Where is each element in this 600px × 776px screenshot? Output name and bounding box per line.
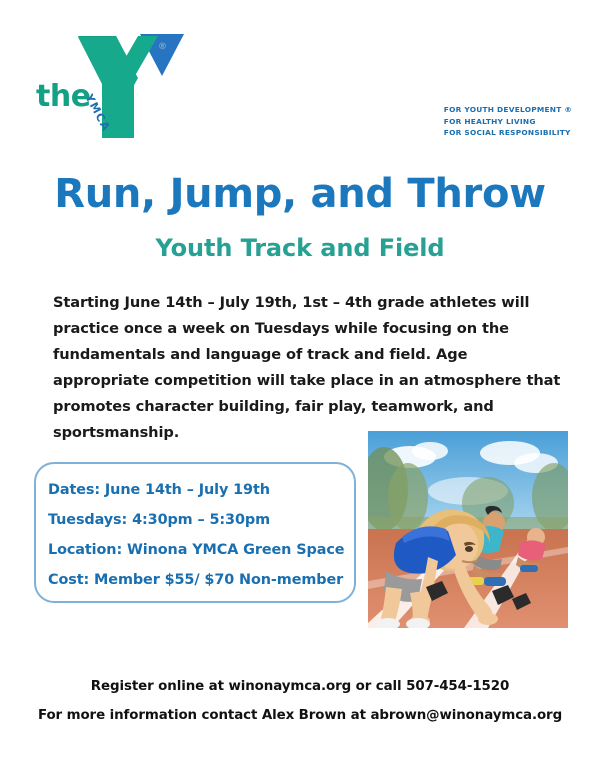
footer-info-line: For more information contact Alex Brown …: [0, 701, 600, 730]
ymca-y-mark-icon: [72, 26, 190, 144]
ymca-tagline: FOR YOUTH DEVELOPMENT ® FOR HEALTHY LIVI…: [444, 104, 572, 139]
tagline-line-1: FOR YOUTH DEVELOPMENT ®: [444, 104, 572, 116]
detail-location: Location: Winona YMCA Green Space: [48, 535, 346, 565]
footer-register-line: Register online at winonaymca.org or cal…: [0, 672, 600, 701]
page-subtitle: Youth Track and Field: [0, 235, 600, 261]
track-athletes-photo: [368, 431, 568, 628]
detail-times: Tuesdays: 4:30pm – 5:30pm: [48, 505, 346, 535]
tagline-line-2: FOR HEALTHY LIVING: [444, 116, 572, 128]
detail-dates: Dates: June 14th – July 19th: [48, 475, 346, 505]
program-details-box: Dates: June 14th – July 19th Tuesdays: 4…: [34, 462, 356, 603]
program-details-list: Dates: June 14th – July 19th Tuesdays: 4…: [48, 475, 346, 595]
registered-trademark-icon: ®: [158, 42, 167, 52]
footer-contact: Register online at winonaymca.org or cal…: [0, 672, 600, 730]
detail-cost: Cost: Member $55/ $70 Non-member: [48, 565, 346, 595]
program-description: Starting June 14th – July 19th, 1st – 4t…: [53, 290, 561, 446]
page-title: Run, Jump, and Throw: [0, 172, 600, 216]
flyer-page: the ® YMCA FOR YOUTH DEVELOPMENT ® FOR H…: [0, 0, 600, 776]
ymca-logo: the ® YMCA: [36, 26, 216, 146]
tagline-line-3: FOR SOCIAL RESPONSIBILITY: [444, 127, 572, 139]
